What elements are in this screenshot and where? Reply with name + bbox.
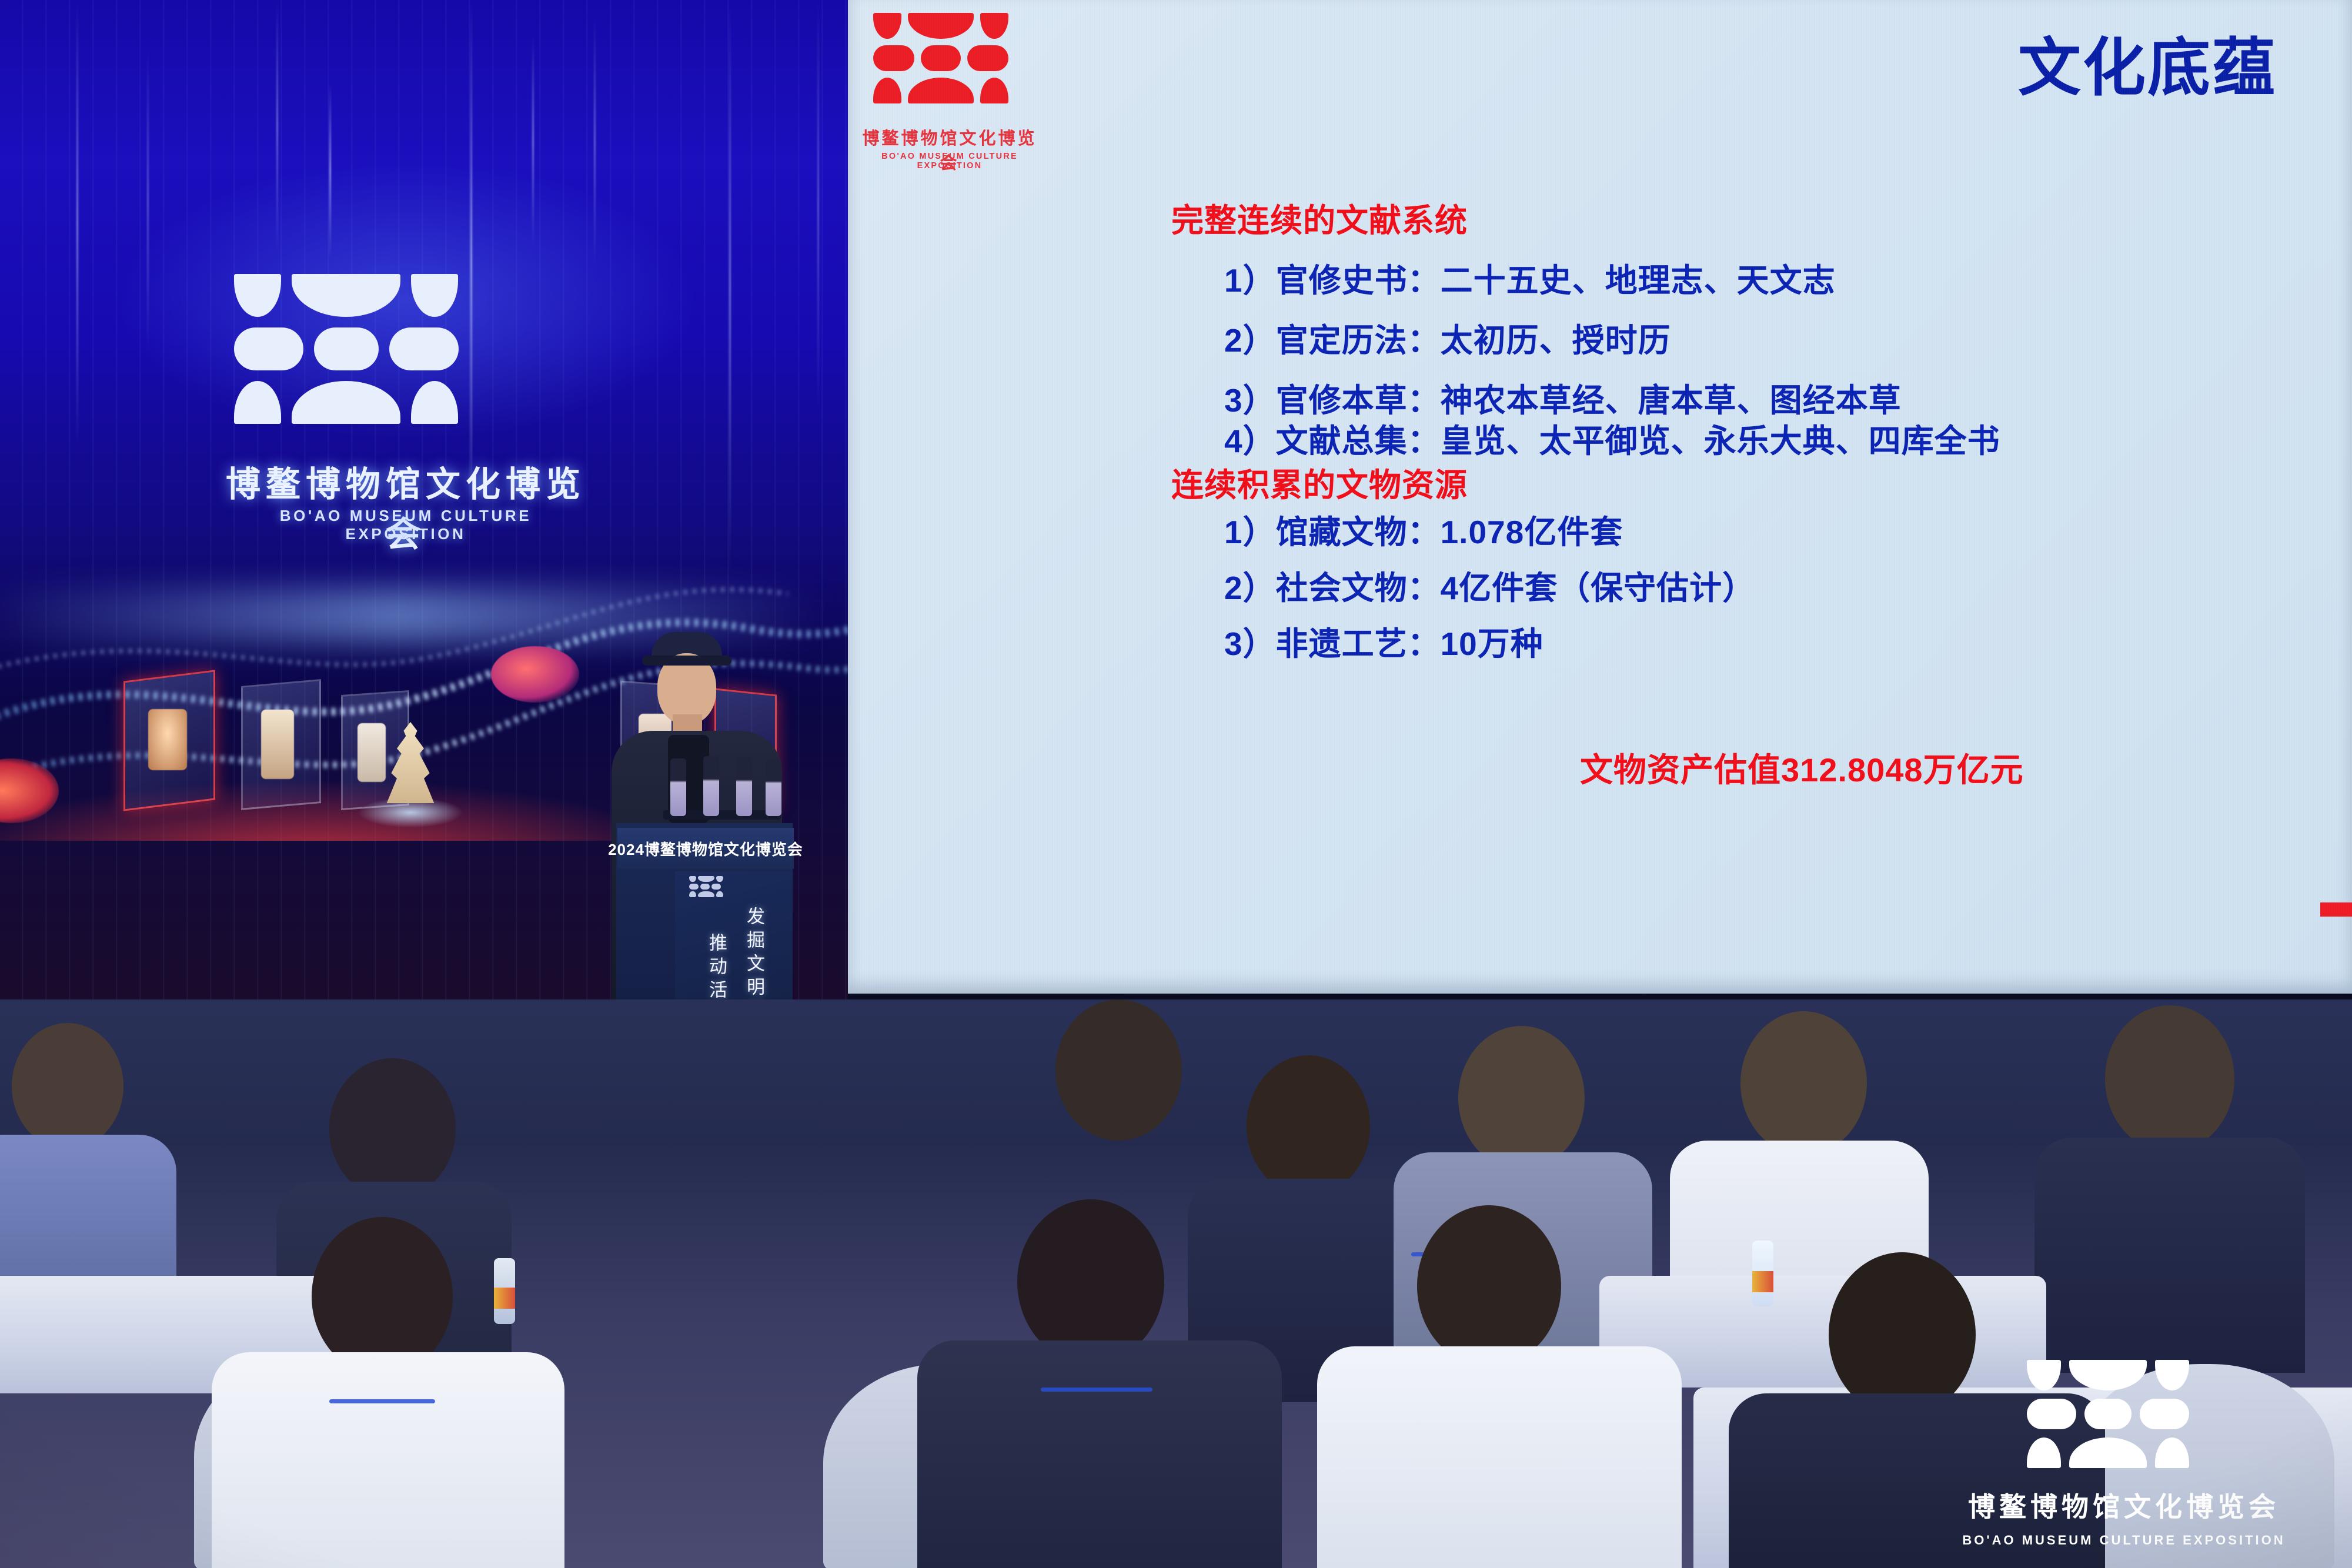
microphone-1 <box>670 758 686 816</box>
slide-heading-2: 连续积累的文物资源 <box>1171 459 1468 506</box>
microphone-3 <box>736 757 752 816</box>
podium-logo-mark <box>689 876 723 899</box>
watermark-brand-en: BO'AO MUSEUM CULTURE EXPOSITION <box>1918 1533 2330 1548</box>
slide-heading-1: 完整连续的文献系统 <box>1171 194 1468 241</box>
bottle-label-1 <box>494 1288 515 1309</box>
slide-item-2-3: 3）非遗工艺：10万种 <box>1224 617 1543 664</box>
slide-edge-accent <box>2320 902 2352 917</box>
slide-brand-en: BO'AO MUSEUM CULTURE EXPOSITION <box>861 152 1038 170</box>
slide-item-2-2: 2）社会文物：4亿件套（保守估计） <box>1224 561 1755 609</box>
conference-photo: 博鳌博物馆文化博览会 BO'AO MUSEUM CULTURE EXPOSITI… <box>0 0 2352 1568</box>
speaker-cap-brim <box>642 656 731 666</box>
slide-item-1-4: 4）文献总集：皇览、太平御览、永乐大典、四库全书 <box>1224 414 2000 462</box>
presentation-slide: 博鳌博物馆文化博览会 BO'AO MUSEUM CULTURE EXPOSITI… <box>848 0 2352 994</box>
slide-logo-mark <box>873 13 1008 110</box>
podium-sign: 2024博鳌博物馆文化博览会 <box>617 828 794 869</box>
slide-item-1-1: 1）官修史书：二十五史、地理志、天文志 <box>1224 254 1836 301</box>
watermark-logo-mark <box>2027 1360 2221 1468</box>
slide-item-1-2: 2）官定历法：太初历、授时历 <box>1224 314 1671 361</box>
slide-item-1-3: 3）官修本草：神农本草经、唐本草、图经本草 <box>1224 374 1902 421</box>
bottle-label-2 <box>1752 1271 1773 1292</box>
podium-sign-text: 2024博鳌博物馆文化博览会 <box>608 838 803 860</box>
watermark-logo: 博鳌博物馆文化博览会 BO'AO MUSEUM CULTURE EXPOSITI… <box>1918 1360 2330 1548</box>
led-brand-en: BO'AO MUSEUM CULTURE EXPOSITION <box>223 507 588 543</box>
slide-title: 文化底蕴 <box>2018 16 2277 108</box>
watermark-brand-cn: 博鳌博物馆文化博览会 <box>1918 1486 2330 1524</box>
boao-logo-mark <box>234 274 459 434</box>
microphone-4 <box>766 760 781 816</box>
slide-item-2-1: 1）馆藏文物：1.078亿件套 <box>1224 506 1623 553</box>
slide-footer-highlight: 文物资产估值312.8048万亿元 <box>1580 744 2024 791</box>
microphone-2 <box>703 756 719 816</box>
